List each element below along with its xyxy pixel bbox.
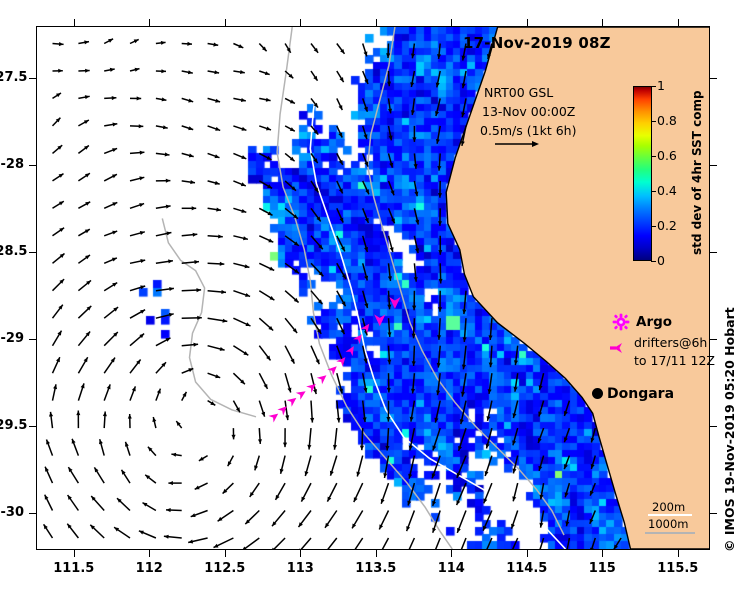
y-tick xyxy=(29,426,36,427)
x-tick-top xyxy=(376,19,377,26)
annotation-line-2: 13-Nov 00:00Z xyxy=(482,104,575,119)
right-arrow-icon xyxy=(494,137,540,151)
y-tick xyxy=(29,252,36,253)
y-tick-label: -29 xyxy=(0,331,24,346)
sst-stddev-heatmap xyxy=(37,27,709,549)
y-tick-label: -28.5 xyxy=(0,244,24,259)
y-tick-label: -29.5 xyxy=(0,418,24,433)
annotation-line-1: NRT00 GSL xyxy=(484,85,553,100)
colorbar-tick-label: 0.8 xyxy=(657,113,677,128)
x-tick-top xyxy=(149,19,150,26)
legend-drifter-line-2: to 17/11 12Z xyxy=(634,353,715,368)
y-tick-label: -28 xyxy=(0,157,24,172)
colorbar-tick-label: 1 xyxy=(657,78,665,93)
map-title: 17-Nov-2019 08Z xyxy=(463,34,611,52)
x-tick-label: 114.5 xyxy=(497,561,557,576)
x-tick-label: 111.5 xyxy=(44,561,104,576)
annotation-line-3: 0.5m/s (1kt 6h) xyxy=(480,123,576,138)
colorbar-tick xyxy=(651,261,656,262)
y-tick-label: -30 xyxy=(0,505,24,520)
x-tick-label: 115 xyxy=(572,561,632,576)
legend-argo-label: Argo xyxy=(636,314,672,330)
argo-float-marker-icon xyxy=(612,313,630,331)
x-tick-label: 113.5 xyxy=(346,561,406,576)
y-tick-right xyxy=(710,339,717,340)
x-tick-top xyxy=(300,19,301,26)
x-tick xyxy=(225,550,226,557)
city-dot-icon xyxy=(592,388,603,399)
y-tick xyxy=(29,339,36,340)
place-label-dongara: Dongara xyxy=(607,386,674,402)
x-tick-top xyxy=(74,19,75,26)
depth-label-1000m: 1000m xyxy=(648,517,688,531)
drifter-chevron-icon xyxy=(609,341,627,355)
credit-text: © IMOS 19-Nov-2019 05:20 Hobart xyxy=(722,307,737,552)
legend-drifter-line-1: drifters@6h xyxy=(634,335,707,350)
y-tick-right xyxy=(710,513,717,514)
x-tick xyxy=(451,550,452,557)
colorbar-tick xyxy=(651,191,656,192)
y-tick-right xyxy=(710,426,717,427)
x-tick-label: 112 xyxy=(119,561,179,576)
x-tick xyxy=(527,550,528,557)
depth-label-200m: 200m xyxy=(652,500,685,514)
x-tick xyxy=(300,550,301,557)
y-tick xyxy=(29,513,36,514)
x-tick-top xyxy=(527,19,528,26)
x-tick xyxy=(602,550,603,557)
depth-line-1000m xyxy=(645,532,695,534)
colorbar-tick-label: 0.4 xyxy=(657,183,677,198)
depth-line-200m xyxy=(648,514,692,516)
colorbar-tick xyxy=(651,121,656,122)
x-tick-top xyxy=(451,19,452,26)
colorbar-tick xyxy=(651,156,656,157)
x-tick-top xyxy=(225,19,226,26)
x-tick-label: 112.5 xyxy=(195,561,255,576)
map-plot-area[interactable] xyxy=(36,26,710,550)
y-tick-label: -27.5 xyxy=(0,70,24,85)
colorbar-tick-label: 0.2 xyxy=(657,218,677,233)
x-tick-top xyxy=(678,19,679,26)
colorbar-tick-label: 0.6 xyxy=(657,148,677,163)
y-tick-right xyxy=(710,165,717,166)
x-tick xyxy=(678,550,679,557)
x-tick xyxy=(74,550,75,557)
y-tick-right xyxy=(710,252,717,253)
x-tick-label: 113 xyxy=(270,561,330,576)
colorbar xyxy=(633,86,652,261)
y-tick-right xyxy=(710,78,717,79)
y-tick xyxy=(29,78,36,79)
x-tick-label: 114 xyxy=(421,561,481,576)
colorbar-tick xyxy=(651,86,656,87)
colorbar-title: std dev of 4hr SST comp xyxy=(690,90,704,255)
colorbar-tick xyxy=(651,226,656,227)
x-tick xyxy=(376,550,377,557)
x-tick-label: 115.5 xyxy=(648,561,708,576)
x-tick-top xyxy=(602,19,603,26)
y-tick xyxy=(29,165,36,166)
x-tick xyxy=(149,550,150,557)
sst-map-figure: 17-Nov-2019 08Z NRT00 GSL 13-Nov 00:00Z … xyxy=(0,0,739,592)
colorbar-tick-label: 0 xyxy=(657,253,665,268)
